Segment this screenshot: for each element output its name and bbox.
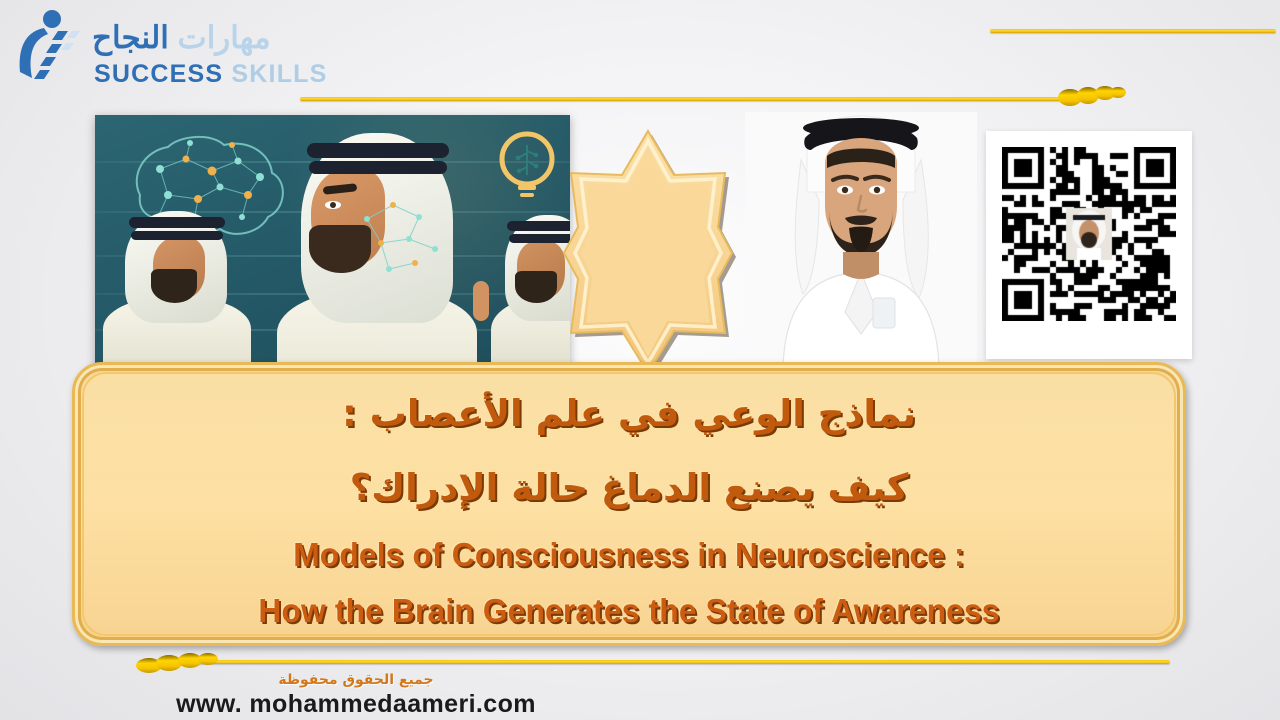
neuroscience-discussion-illustration: [95, 115, 570, 367]
website-url[interactable]: www. mohammedaameri.com: [96, 690, 616, 719]
title-arabic-line-2: كيف يصنع الدماغ حالة الإدراك؟: [84, 466, 1174, 509]
man-left: [103, 211, 251, 367]
logo-english-text: SUCCESS SKILLS: [94, 60, 328, 89]
speaker-portrait: [745, 112, 977, 368]
title-english-line-1: Models of Consciousness in Neuroscience …: [106, 536, 1152, 574]
gold-ornament-upper: [1058, 86, 1138, 108]
man-foreground: [267, 129, 477, 367]
logo-arabic-primary: النجاح: [92, 20, 169, 55]
brand-logo: مهارات النجاح SUCCESS SKILLS: [14, 8, 254, 96]
gold-rule-lower: [190, 660, 1170, 664]
title-arabic-line-1: نماذج الوعي في علم الأعصاب :: [84, 392, 1174, 435]
logo-english-secondary: SKILLS: [231, 60, 327, 88]
lightbulb-brain-icon: [496, 131, 558, 205]
title-english-line-2: How the Brain Generates the State of Awa…: [106, 592, 1152, 630]
title-card-inner: نماذج الوعي في علم الأعصاب : كيف يصنع ال…: [82, 372, 1176, 636]
qr-code[interactable]: [986, 131, 1192, 359]
logo-arabic-secondary: مهارات: [178, 20, 271, 55]
success-skills-logo-icon: [14, 10, 80, 84]
copyright-text: جميع الحقوق محفوظة: [96, 672, 616, 688]
qr-code-canvas[interactable]: [1002, 147, 1176, 321]
gold-ornament-lower: [136, 652, 228, 674]
logo-arabic-text: مهارات النجاح: [92, 20, 271, 56]
eight-pointed-star-badge: [558, 128, 736, 373]
logo-english-primary: SUCCESS: [94, 60, 223, 88]
gold-rule-upper: [300, 97, 1082, 101]
title-card: نماذج الوعي في علم الأعصاب : كيف يصنع ال…: [72, 362, 1186, 646]
gold-rule-top-right: [990, 29, 1276, 33]
